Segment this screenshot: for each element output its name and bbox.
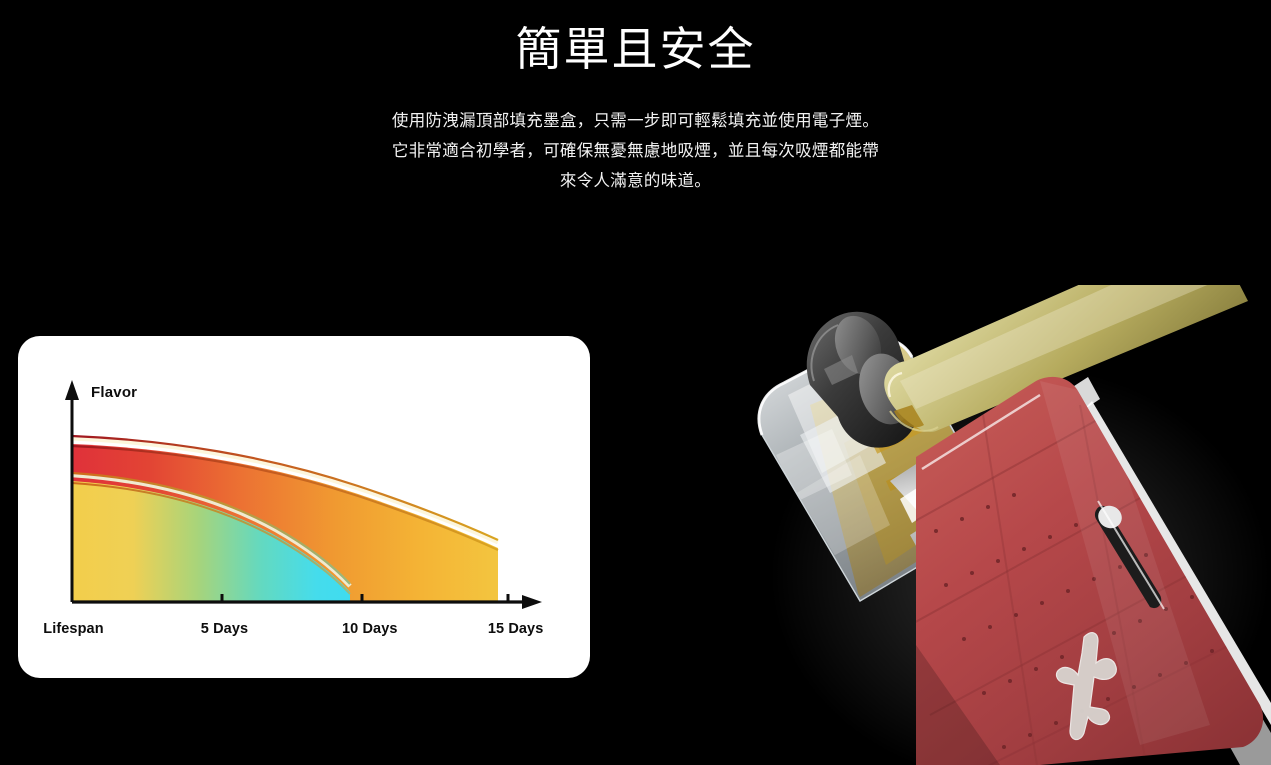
x-axis-label-15-days: 15 Days (488, 621, 544, 637)
x-axis-labels: Lifespan 5 Days 10 Days 15 Days (18, 621, 590, 645)
x-axis-arrow-icon (522, 595, 542, 609)
product-image-vape-device (740, 285, 1271, 765)
description-line-2: 它非常適合初學者，可確保無憂無慮地吸煙，並且每次吸煙都能帶 (336, 136, 936, 166)
description-line-3: 來令人滿意的味道。 (336, 166, 936, 196)
x-axis-label-lifespan: Lifespan (43, 621, 103, 637)
x-axis-label-10-days: 10 Days (342, 621, 398, 637)
y-axis-arrow-icon (65, 380, 79, 400)
page-root: 簡單且安全 使用防洩漏頂部填充墨盒，只需一步即可輕鬆填充並使用電子煙。 它非常適… (0, 0, 1271, 765)
page-description: 使用防洩漏頂部填充墨盒，只需一步即可輕鬆填充並使用電子煙。 它非常適合初學者，可… (336, 106, 936, 196)
x-axis-label-5-days: 5 Days (201, 621, 248, 637)
header-section: 簡單且安全 使用防洩漏頂部填充墨盒，只需一步即可輕鬆填充並使用電子煙。 它非常適… (0, 0, 1271, 196)
vape-device-illustration (740, 285, 1271, 765)
y-axis-label: Flavor (91, 384, 137, 401)
page-title: 簡單且安全 (0, 0, 1271, 76)
flavor-lifespan-chart-card: Flavor Lifespan 5 Days 10 Days 15 Days (18, 336, 590, 678)
description-line-1: 使用防洩漏頂部填充墨盒，只需一步即可輕鬆填充並使用電子煙。 (336, 106, 936, 136)
